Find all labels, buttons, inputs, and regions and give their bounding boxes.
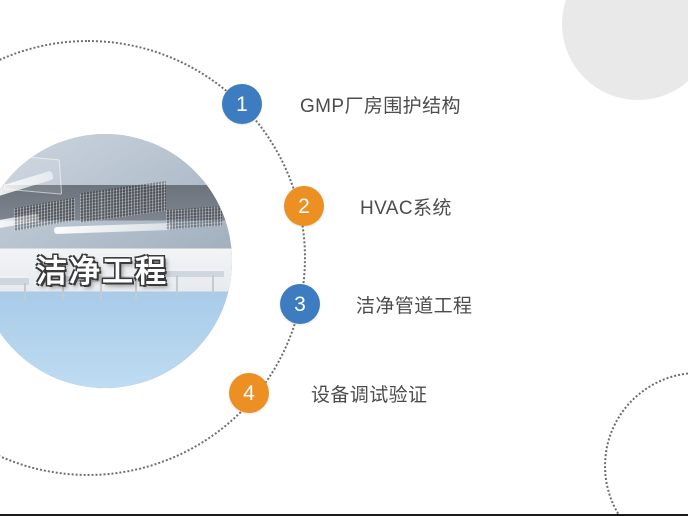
dotted-circle-decoration-bottom-right bbox=[604, 372, 688, 516]
lab-bench-leg bbox=[24, 283, 26, 301]
hvac-duct-grill bbox=[166, 206, 222, 230]
hvac-duct-grill bbox=[80, 181, 166, 224]
step-label-4: 设备调试验证 bbox=[311, 380, 427, 407]
step-label-1: GMP厂房围护结构 bbox=[300, 91, 461, 118]
gray-circle-decoration bbox=[562, 0, 688, 100]
photo-caption: 洁净工程 bbox=[36, 246, 168, 291]
slide-canvas: 洁净工程 1 GMP厂房围护结构 2 HVAC系统 3 洁净管道工程 4 设备调… bbox=[0, 0, 688, 516]
step-item-4[interactable]: 4 设备调试验证 bbox=[229, 373, 427, 413]
ceiling-light-strip bbox=[54, 223, 171, 234]
lab-bench-leg bbox=[212, 275, 214, 295]
step-number-badge-3: 3 bbox=[280, 284, 320, 324]
step-item-1[interactable]: 1 GMP厂房围护结构 bbox=[222, 84, 461, 124]
step-number-badge-4: 4 bbox=[229, 373, 269, 413]
step-label-2: HVAC系统 bbox=[360, 193, 452, 220]
lab-bench-leg bbox=[176, 275, 178, 295]
step-number-badge-2: 2 bbox=[284, 186, 324, 226]
step-label-3: 洁净管道工程 bbox=[356, 291, 472, 318]
step-number-badge-1: 1 bbox=[222, 84, 262, 124]
step-item-3[interactable]: 3 洁净管道工程 bbox=[280, 284, 472, 324]
step-item-2[interactable]: 2 HVAC系统 bbox=[284, 186, 452, 226]
